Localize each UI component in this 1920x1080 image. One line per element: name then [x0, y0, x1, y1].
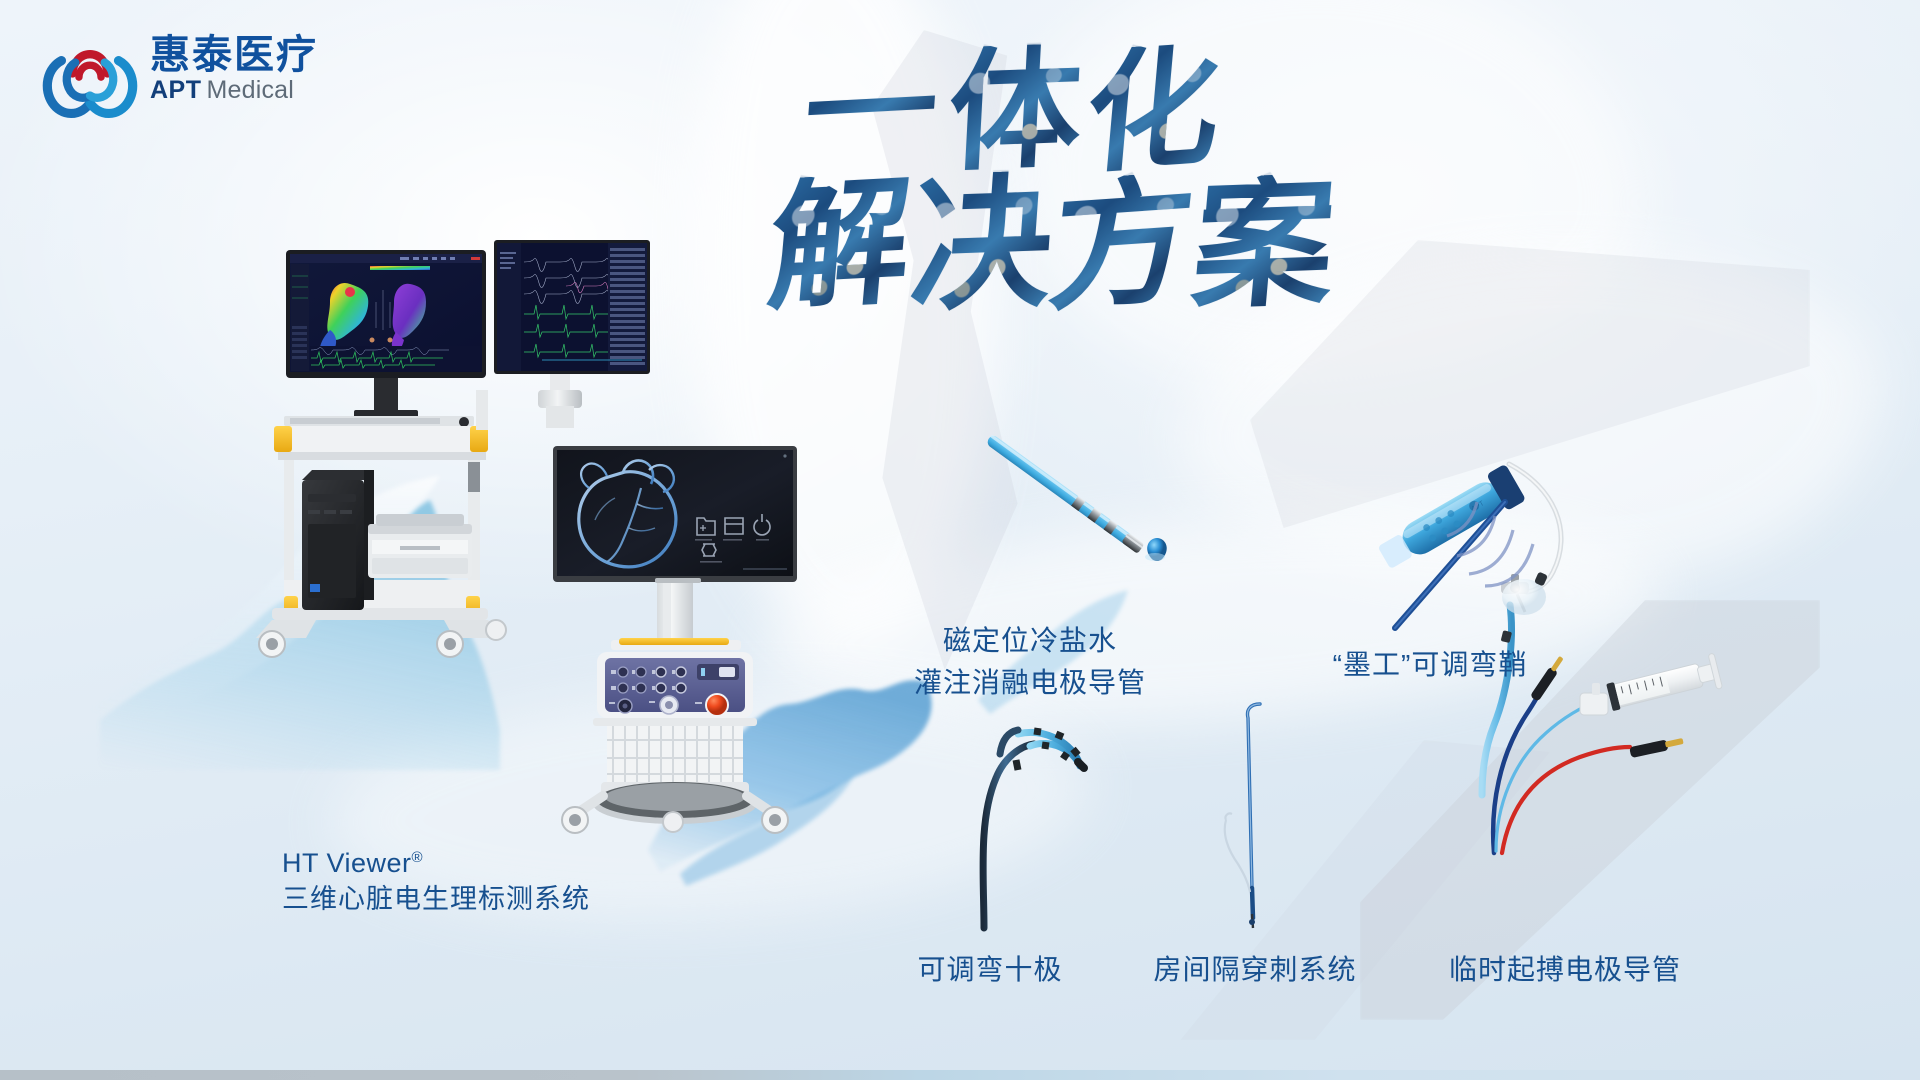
product-irrigated-ablation-catheter — [975, 430, 1205, 595]
label-decapolar-catheter: 可调弯十极 — [890, 950, 1090, 991]
product-temporary-pacing-catheter — [1480, 555, 1810, 855]
product-transseptal-puncture-system — [1200, 700, 1320, 930]
ht-viewer-label: HT Viewer® 三维心脏电生理标测系统 — [282, 845, 590, 919]
display-cart-system — [545, 440, 805, 840]
heart-display-monitor — [553, 446, 797, 583]
apt-medical-interlocking-circles-logo — [44, 22, 136, 114]
syringe-assembly — [1580, 653, 1723, 715]
brand-logo[interactable]: 惠泰医疗 APT Medical — [44, 22, 318, 114]
display-column — [657, 583, 693, 645]
label-steerable-sheath: “墨工”可调弯鞘 — [1300, 645, 1560, 686]
label-temporary-pacing-catheter: 临时起搏电极导管 — [1420, 950, 1710, 991]
headline-line-2: 解决方案 — [770, 175, 1334, 315]
bottom-edge-strip — [0, 1070, 1920, 1080]
logo-chinese-name: 惠泰医疗 — [150, 34, 318, 76]
product-decapolar-catheter — [930, 700, 1130, 930]
logo-apt-text: APT — [150, 78, 202, 103]
headline-char: 案 — [1188, 173, 1341, 318]
monitor-right — [494, 240, 650, 428]
lower-cart — [562, 718, 788, 833]
headline-calligraphy: 一体化 解决方案 — [975, 45, 1635, 375]
main-action-button — [706, 694, 728, 716]
poster-canvas: 惠泰医疗 APT Medical 一体化 解决方案 — [0, 0, 1920, 1080]
headline-char: 解 — [763, 171, 916, 318]
red-connector — [1629, 736, 1684, 758]
headline-char: 决 — [907, 170, 1058, 320]
headline-char: 方 — [1044, 170, 1200, 319]
workstation-tower-pc — [302, 470, 374, 610]
ht-viewer-name-en: HT Viewer® — [282, 845, 590, 881]
logo-medical-text: Medical — [207, 78, 295, 103]
control-panel — [597, 652, 753, 718]
headline-char: 一 — [801, 50, 942, 173]
logo-english-name: APT Medical — [150, 78, 318, 103]
label-transseptal-puncture-system: 房间隔穿刺系统 — [1135, 950, 1375, 991]
printer — [368, 514, 472, 578]
label-irrigated-ablation-catheter: 磁定位冷盐水 灌注消融电极导管 — [860, 620, 1200, 704]
headline-line-1: 一体化 — [805, 45, 1219, 177]
ht-viewer-name-cn: 三维心脏电生理标测系统 — [282, 881, 590, 919]
monitor-left — [286, 250, 486, 418]
headline-char: 化 — [1081, 41, 1226, 182]
shelf-accent — [619, 638, 729, 645]
